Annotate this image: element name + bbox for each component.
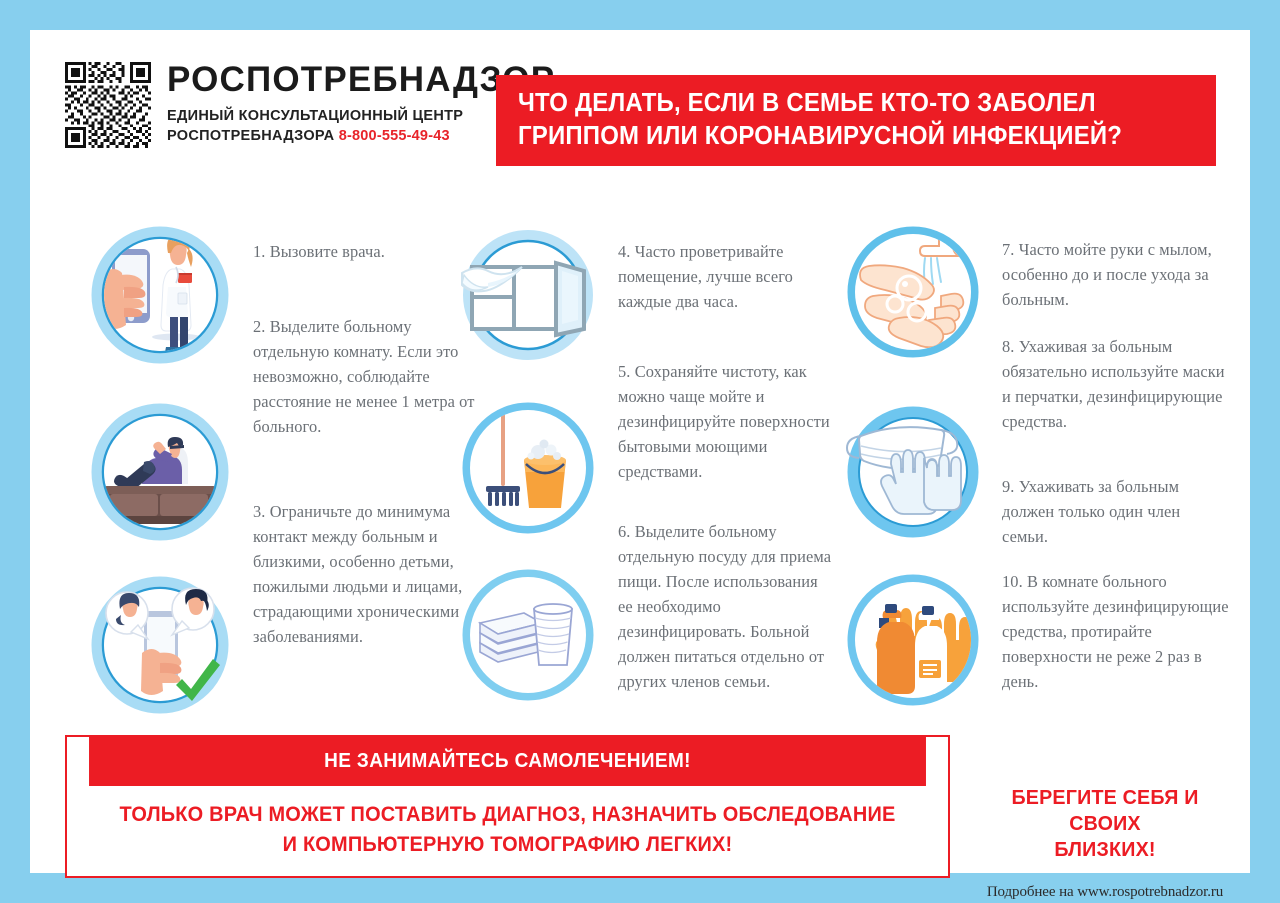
brand-block: РОСПОТРЕБНАДЗОР ЕДИНЫЙ КОНСУЛЬТАЦИОННЫЙ …	[65, 60, 555, 148]
poster-footer: НЕ ЗАНИМАЙТЕСЬ САМОЛЕЧЕНИЕМ! ТОЛЬКО ВРАЧ…	[30, 720, 1250, 873]
title-line-2: ГРИППОМ ИЛИ КОРОНАВИРУСНОЙ ИНФЕКЦИЕЙ?	[518, 120, 1153, 153]
disposable-dishes-icon	[458, 565, 598, 705]
more-info-link[interactable]: Подробнее на www.rospotrebnadzor.ru	[970, 884, 1240, 901]
poster-canvas: РОСПОТРЕБНАДЗОР ЕДИНЫЙ КОНСУЛЬТАЦИОННЫЙ …	[30, 30, 1250, 873]
tips-column-3: 7. Часто мойте руки с мылом, особенно до…	[815, 180, 1235, 710]
mask-gloves-icon	[843, 402, 983, 542]
closing-title-line1: БЕРЕГИТЕ СЕБЯ И СВОИХ	[975, 785, 1234, 837]
title-line-1: ЧТО ДЕЛАТЬ, ЕСЛИ В СЕМЬЕ КТО-ТО ЗАБОЛЕЛ	[518, 87, 1153, 120]
tip-text-4: 4. Часто проветривайте помещение, лучше …	[618, 240, 830, 315]
qr-code-icon	[65, 62, 151, 148]
phone-contacts-checkmark-icon	[90, 575, 230, 715]
tips-column-1: 1. Вызовите врача.	[48, 180, 458, 710]
hotline-phone: 8-800-555-49-43	[339, 128, 450, 144]
handwashing-tap-icon	[843, 222, 983, 362]
tips-area: 1. Вызовите врача.	[30, 180, 1250, 710]
phone-doctor-icon	[90, 225, 230, 365]
brand-subtitle-line2: РОСПОТРЕБНАДЗОРА	[167, 128, 334, 144]
tip-text-9: 9. Ухаживать за больным должен только од…	[1002, 475, 1224, 550]
closing-block: БЕРЕГИТЕ СЕБЯ И СВОИХ БЛИЗКИХ! Подробнее…	[970, 785, 1240, 901]
warning-body: ТОЛЬКО ВРАЧ МОЖЕТ ПОСТАВИТЬ ДИАГНОЗ, НАЗ…	[89, 786, 926, 876]
person-resting-sofa-icon	[90, 402, 230, 542]
warning-body-line2: И КОМПЬЮТЕРНУЮ ТОМОГРАФИЮ ЛЕГКИХ!	[99, 830, 917, 860]
closing-title-line2: БЛИЗКИХ!	[975, 837, 1234, 863]
warning-body-line1: ТОЛЬКО ВРАЧ МОЖЕТ ПОСТАВИТЬ ДИАГНОЗ, НАЗ…	[99, 800, 917, 830]
warning-box: НЕ ЗАНИМАЙТЕСЬ САМОЛЕЧЕНИЕМ! ТОЛЬКО ВРАЧ…	[65, 735, 950, 878]
tip-text-7: 7. Часто мойте руки с мылом, особенно до…	[1002, 238, 1237, 313]
disinfectant-gloves-icon	[843, 570, 983, 710]
poster-header: РОСПОТРЕБНАДЗОР ЕДИНЫЙ КОНСУЛЬТАЦИОННЫЙ …	[30, 30, 1250, 170]
tip-text-8: 8. Ухаживая за больным обязательно испол…	[1002, 335, 1237, 435]
warning-headline: НЕ ЗАНИМАЙТЕСЬ САМОЛЕЧЕНИЕМ!	[89, 737, 926, 786]
tip-text-5: 5. Сохраняйте чистоту, как можно чаще мо…	[618, 360, 833, 485]
tip-text-10: 10. В комнате больного используйте дезин…	[1002, 570, 1237, 695]
open-window-icon	[458, 225, 598, 365]
tip-text-6: 6. Выделите больному отдельную посуду дл…	[618, 520, 833, 695]
mop-bucket-icon	[458, 398, 598, 538]
title-banner: ЧТО ДЕЛАТЬ, ЕСЛИ В СЕМЬЕ КТО-ТО ЗАБОЛЕЛ …	[496, 75, 1216, 166]
tips-column-2: 4. Часто проветривайте помещение, лучше …	[438, 180, 818, 710]
